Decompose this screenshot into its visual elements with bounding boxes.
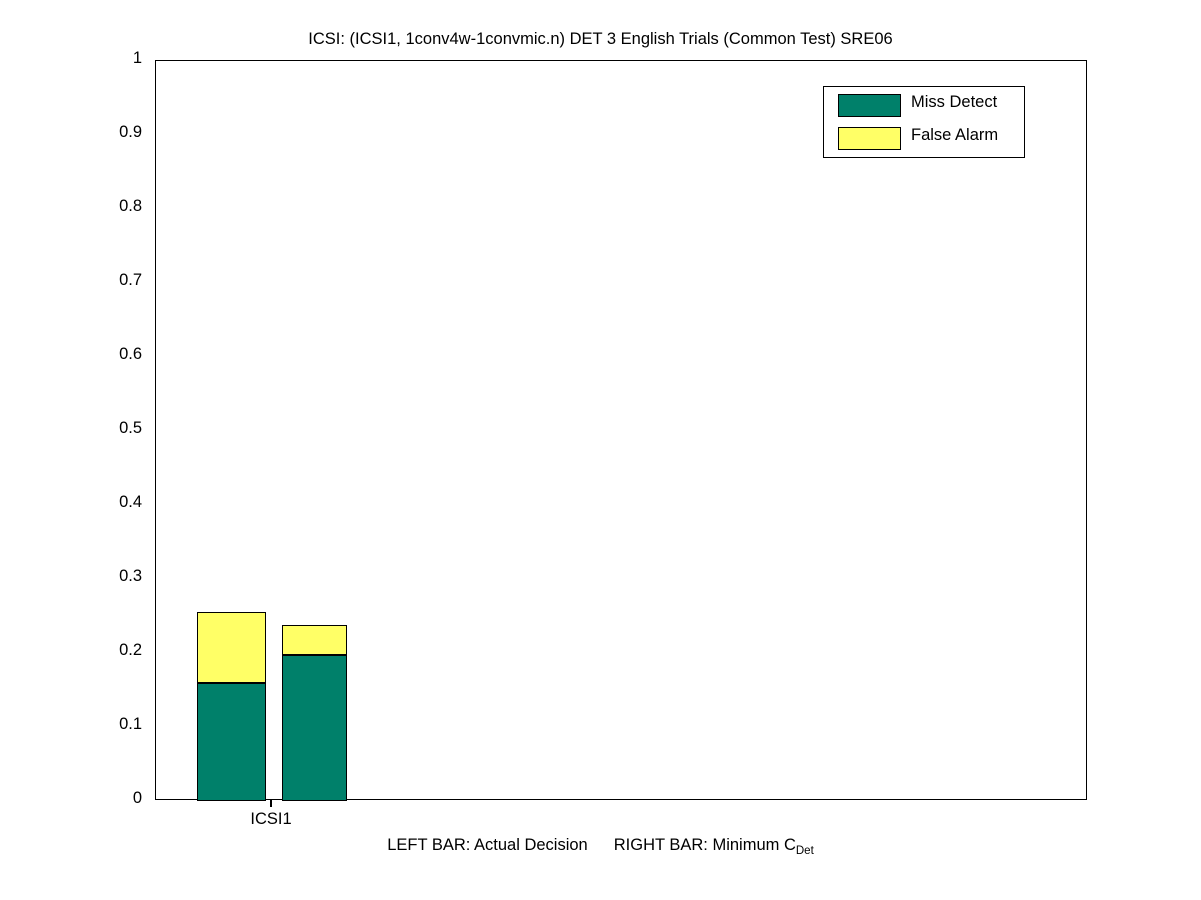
plot-inner — [156, 61, 1086, 799]
y-axis-tick-label: 0.1 — [119, 715, 142, 734]
bar-segment-false-alarm — [197, 612, 266, 682]
y-axis-tick-label: 0.8 — [119, 197, 142, 216]
y-axis-tick-label: 0.3 — [119, 567, 142, 586]
bar-minimum-cdet — [282, 61, 347, 801]
bar-segment-miss-detect — [197, 683, 266, 801]
y-axis-tick-label: 0 — [133, 789, 142, 808]
chart-title: ICSI: (ICSI1, 1conv4w-1convmic.n) DET 3 … — [0, 30, 1201, 49]
figure-canvas: ICSI: (ICSI1, 1conv4w-1convmic.n) DET 3 … — [0, 0, 1201, 900]
legend-item-miss-detect: Miss Detect — [824, 90, 1024, 120]
y-axis-tick-label: 0.7 — [119, 271, 142, 290]
x-axis-label-icsi1: ICSI1 — [250, 810, 291, 829]
y-axis-tick-label: 0.5 — [119, 419, 142, 438]
y-axis-tick-label: 0.4 — [119, 493, 142, 512]
y-axis-tick-label: 0.2 — [119, 641, 142, 660]
bar-segment-false-alarm — [282, 625, 347, 655]
legend-swatch-miss-detect — [838, 94, 901, 117]
bar-segment-miss-detect — [282, 655, 347, 801]
y-axis-tick-label: 0.6 — [119, 345, 142, 364]
legend-swatch-false-alarm — [838, 127, 901, 150]
plot-area — [155, 60, 1087, 800]
y-axis-tick-label: 0.9 — [119, 123, 142, 142]
legend: Miss Detect False Alarm — [823, 86, 1025, 158]
legend-item-false-alarm: False Alarm — [824, 123, 1024, 153]
bar-actual-decision — [197, 61, 266, 801]
footer-caption: LEFT BAR: Actual DecisionRIGHT BAR: Mini… — [0, 836, 1201, 855]
footer-right-bar-text: RIGHT BAR: Minimum C — [614, 836, 796, 854]
legend-label-false-alarm: False Alarm — [911, 126, 998, 145]
footer-right-bar-subscript: Det — [796, 845, 814, 857]
legend-label-miss-detect: Miss Detect — [911, 93, 997, 112]
footer-left-bar-text: LEFT BAR: Actual Decision — [387, 836, 588, 854]
x-axis-tick-icsi1 — [270, 800, 272, 807]
y-axis-tick-label: 1 — [133, 49, 142, 68]
